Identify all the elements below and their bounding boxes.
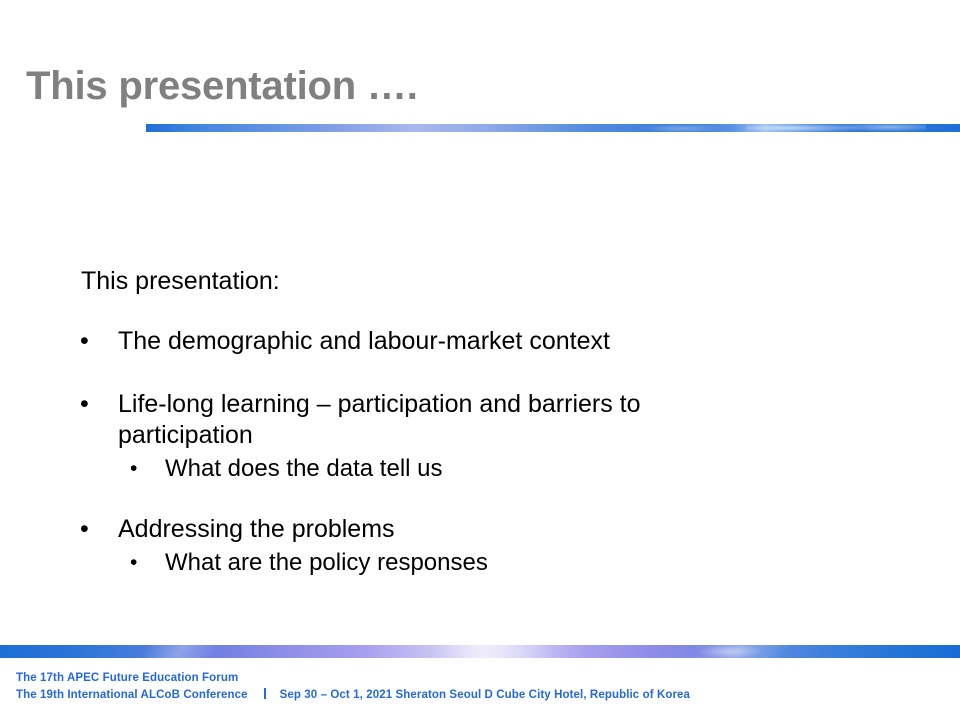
- title-divider-bar: [146, 124, 960, 132]
- band-texture-streak-icon: [90, 645, 270, 658]
- list-item: • What does the data tell us: [0, 453, 960, 484]
- list-item-label: What are the policy responses: [165, 549, 488, 576]
- footer-conference-title: The 19th International ALCoB Conference: [16, 688, 248, 704]
- list-item: • What are the policy responses: [0, 547, 960, 578]
- bullet-marker-icon: •: [80, 514, 94, 545]
- footer-second-line: The 19th International ALCoB Conference …: [16, 687, 690, 704]
- bullet-list: • The demographic and labour-market cont…: [0, 326, 960, 578]
- band-texture-glow-icon: [700, 645, 760, 658]
- footer-forum-title: The 17th APEC Future Education Forum: [16, 671, 690, 687]
- list-item-label: What does the data tell us: [165, 455, 443, 482]
- footer-date-venue: Sep 30 – Oct 1, 2021 Sheraton Seoul D Cu…: [280, 688, 690, 704]
- bullet-marker-icon: •: [130, 547, 144, 578]
- spacer: [0, 484, 960, 514]
- lead-text: This presentation:: [81, 266, 280, 296]
- bullet-marker-icon: •: [80, 326, 94, 357]
- list-item: • Life-long learning – participation and…: [0, 389, 960, 451]
- bullet-marker-icon: •: [130, 453, 144, 484]
- list-item-label: Addressing the problems: [118, 515, 395, 543]
- band-texture-streak-icon: [380, 645, 600, 658]
- footer-separator-icon: [264, 688, 266, 699]
- spacer: [0, 357, 960, 389]
- list-item: • Addressing the problems: [0, 514, 960, 545]
- band-texture-streak-icon: [640, 645, 820, 658]
- list-item: • The demographic and labour-market cont…: [0, 326, 960, 357]
- bottom-decorative-band: [0, 645, 960, 658]
- divider-texture-highlight-icon: [746, 124, 866, 132]
- presentation-slide: This presentation …. This presentation: …: [0, 0, 960, 720]
- list-item-label: The demographic and labour-market contex…: [118, 327, 610, 355]
- page-title: This presentation ….: [26, 63, 418, 109]
- divider-texture-glow-icon: [836, 124, 926, 132]
- divider-texture-sheen-icon: [646, 124, 716, 132]
- list-item-label: Life-long learning – participation and b…: [118, 390, 641, 449]
- slide-footer: The 17th APEC Future Education Forum The…: [16, 671, 690, 703]
- bullet-marker-icon: •: [80, 389, 94, 420]
